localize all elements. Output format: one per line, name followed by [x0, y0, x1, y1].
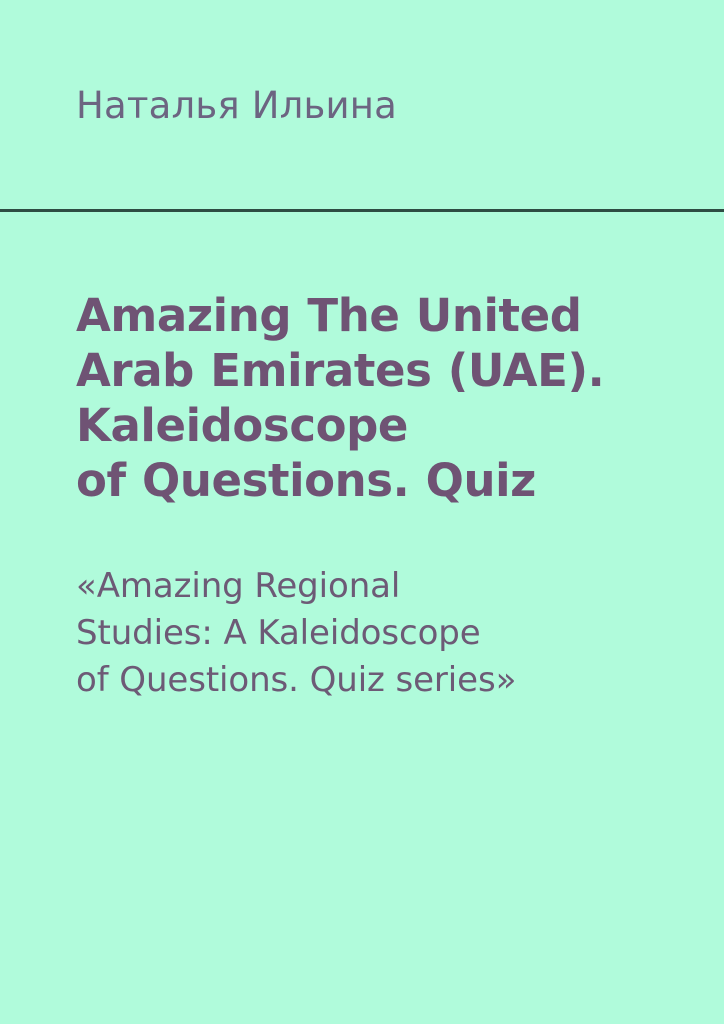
subtitle-line: of Questions. Quiz series» — [76, 657, 676, 704]
title-line: Arab Emirates (UAE). — [76, 343, 676, 398]
subtitle-block: «Amazing Regional Studies: A Kaleidoscop… — [76, 563, 676, 704]
page-title: Amazing The United Arab Emirates (UAE). … — [76, 288, 676, 508]
book-cover: Наталья Ильина Amazing The United Arab E… — [0, 0, 724, 1024]
title-line: Amazing The United — [76, 288, 676, 343]
author-name: Наталья Ильина — [76, 84, 397, 128]
title-block: Amazing The United Arab Emirates (UAE). … — [76, 288, 676, 508]
series-subtitle: «Amazing Regional Studies: A Kaleidoscop… — [76, 563, 676, 704]
subtitle-line: «Amazing Regional — [76, 563, 676, 610]
subtitle-line: Studies: A Kaleidoscope — [76, 610, 676, 657]
header-divider — [0, 209, 724, 212]
title-line: Kaleidoscope — [76, 398, 676, 453]
author-block: Наталья Ильина — [0, 0, 724, 209]
title-line: of Questions. Quiz — [76, 453, 676, 508]
